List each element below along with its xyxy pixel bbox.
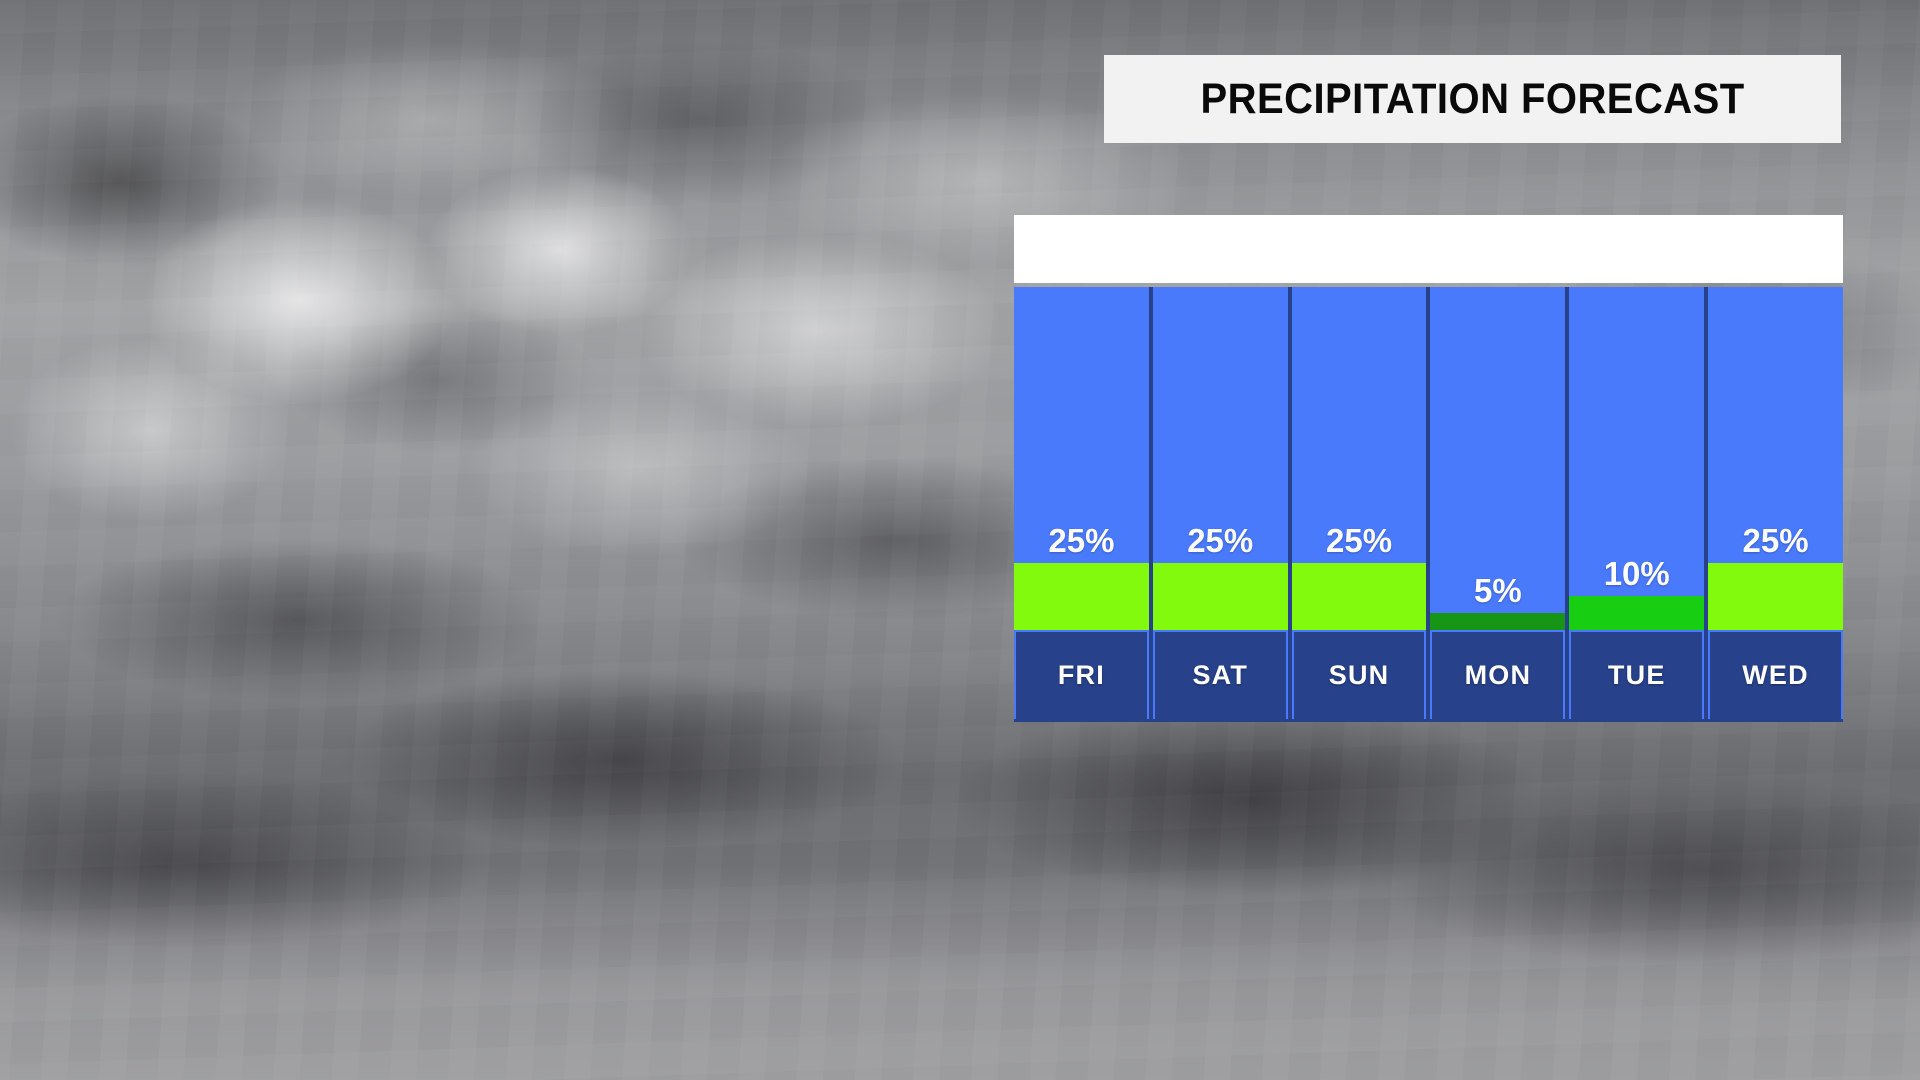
precip-percent-label: 25% (1153, 524, 1288, 563)
day-column-sat: 25%SAT (1153, 287, 1288, 719)
precip-percent-label: 25% (1292, 524, 1427, 563)
day-label: WED (1742, 660, 1809, 691)
precip-percent-label: 25% (1014, 524, 1149, 563)
day-footer: TUE (1569, 630, 1704, 719)
day-footer: SAT (1153, 630, 1288, 719)
precip-bar (1014, 563, 1149, 630)
day-footer: MON (1430, 630, 1565, 719)
day-label: TUE (1608, 660, 1666, 691)
day-label: MON (1465, 660, 1532, 691)
day-label: SUN (1329, 660, 1390, 691)
precip-percent-label: 10% (1569, 557, 1704, 596)
page-title: PRECIPITATION FORECAST (1200, 75, 1744, 124)
precip-bar (1292, 563, 1427, 630)
day-column-mon: 5%MON (1430, 287, 1565, 719)
day-column-tue: 10%TUE (1569, 287, 1704, 719)
day-footer: WED (1708, 630, 1843, 719)
day-label: FRI (1058, 660, 1105, 691)
precipitation-forecast-panel: 25%FRI25%SAT25%SUN5%MON10%TUE25%WED (1014, 215, 1843, 722)
forecast-columns: 25%FRI25%SAT25%SUN5%MON10%TUE25%WED (1014, 287, 1843, 722)
day-column-fri: 25%FRI (1014, 287, 1149, 719)
precip-percent-label: 25% (1708, 524, 1843, 563)
day-column-sun: 25%SUN (1292, 287, 1427, 719)
precip-bar (1569, 596, 1704, 630)
precip-bar (1153, 563, 1288, 630)
day-footer: FRI (1014, 630, 1149, 719)
title-banner: PRECIPITATION FORECAST (1104, 55, 1841, 143)
precip-bar (1430, 613, 1565, 630)
precip-bar (1708, 563, 1843, 630)
day-column-wed: 25%WED (1708, 287, 1843, 719)
day-footer: SUN (1292, 630, 1427, 719)
precip-percent-label: 5% (1430, 574, 1565, 613)
day-label: SAT (1192, 660, 1248, 691)
panel-header-strip (1014, 215, 1843, 283)
